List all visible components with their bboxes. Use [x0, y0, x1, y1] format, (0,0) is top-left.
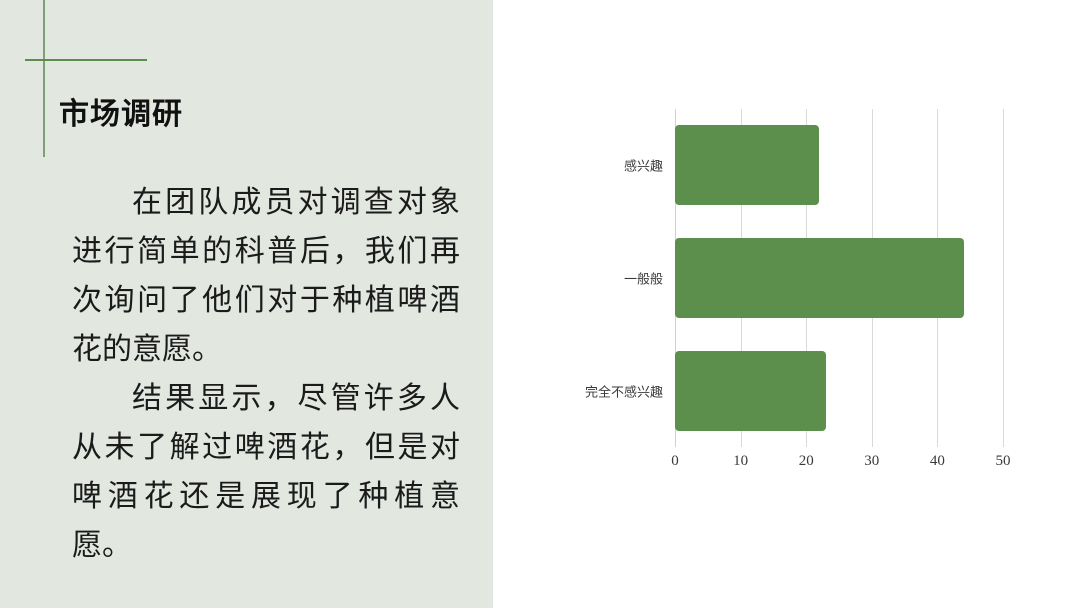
x-axis-tick-label: 50	[996, 453, 1011, 470]
decorative-vertical-line	[43, 0, 45, 157]
gridline-50	[1003, 109, 1004, 447]
slide: 市场调研 在团队成员对调查对象进行简单的科普后，我们再次询问了他们对于种植啤酒花…	[0, 0, 1080, 608]
category-label: 完全不感兴趣	[585, 381, 663, 400]
decorative-horizontal-line	[25, 59, 147, 61]
body-paragraph-1: 在团队成员对调查对象进行简单的科普后，我们再次询问了他们对于种植啤酒花的意愿。	[72, 178, 460, 374]
bar-2[interactable]	[675, 238, 964, 318]
bar-row[interactable]: 感兴趣	[675, 125, 819, 205]
plot-area: 01020304050感兴趣一般般完全不感兴趣	[675, 109, 1003, 447]
bar-row[interactable]: 一般般	[675, 238, 964, 318]
category-label: 一般般	[624, 269, 663, 288]
x-axis-tick-label: 20	[799, 453, 814, 470]
bar-3[interactable]	[675, 351, 826, 431]
x-axis-tick-label: 30	[864, 453, 879, 470]
survey-bar-chart: 01020304050感兴趣一般般完全不感兴趣	[528, 95, 1048, 475]
bar-row[interactable]: 完全不感兴趣	[675, 351, 826, 431]
x-axis-tick-label: 10	[733, 453, 748, 470]
body-text: 在团队成员对调查对象进行简单的科普后，我们再次询问了他们对于种植啤酒花的意愿。 …	[72, 178, 460, 570]
body-paragraph-2: 结果显示，尽管许多人从未了解过啤酒花，但是对啤酒花还是展现了种植意愿。	[72, 374, 460, 570]
bar-1[interactable]	[675, 125, 819, 205]
category-label: 感兴趣	[624, 156, 663, 175]
x-axis-tick-label: 40	[930, 453, 945, 470]
page-title: 市场调研	[59, 96, 183, 134]
left-text-panel: 市场调研 在团队成员对调查对象进行简单的科普后，我们再次询问了他们对于种植啤酒花…	[0, 0, 493, 608]
chart-panel: 01020304050感兴趣一般般完全不感兴趣	[493, 0, 1080, 608]
x-axis-tick-label: 0	[671, 453, 679, 470]
